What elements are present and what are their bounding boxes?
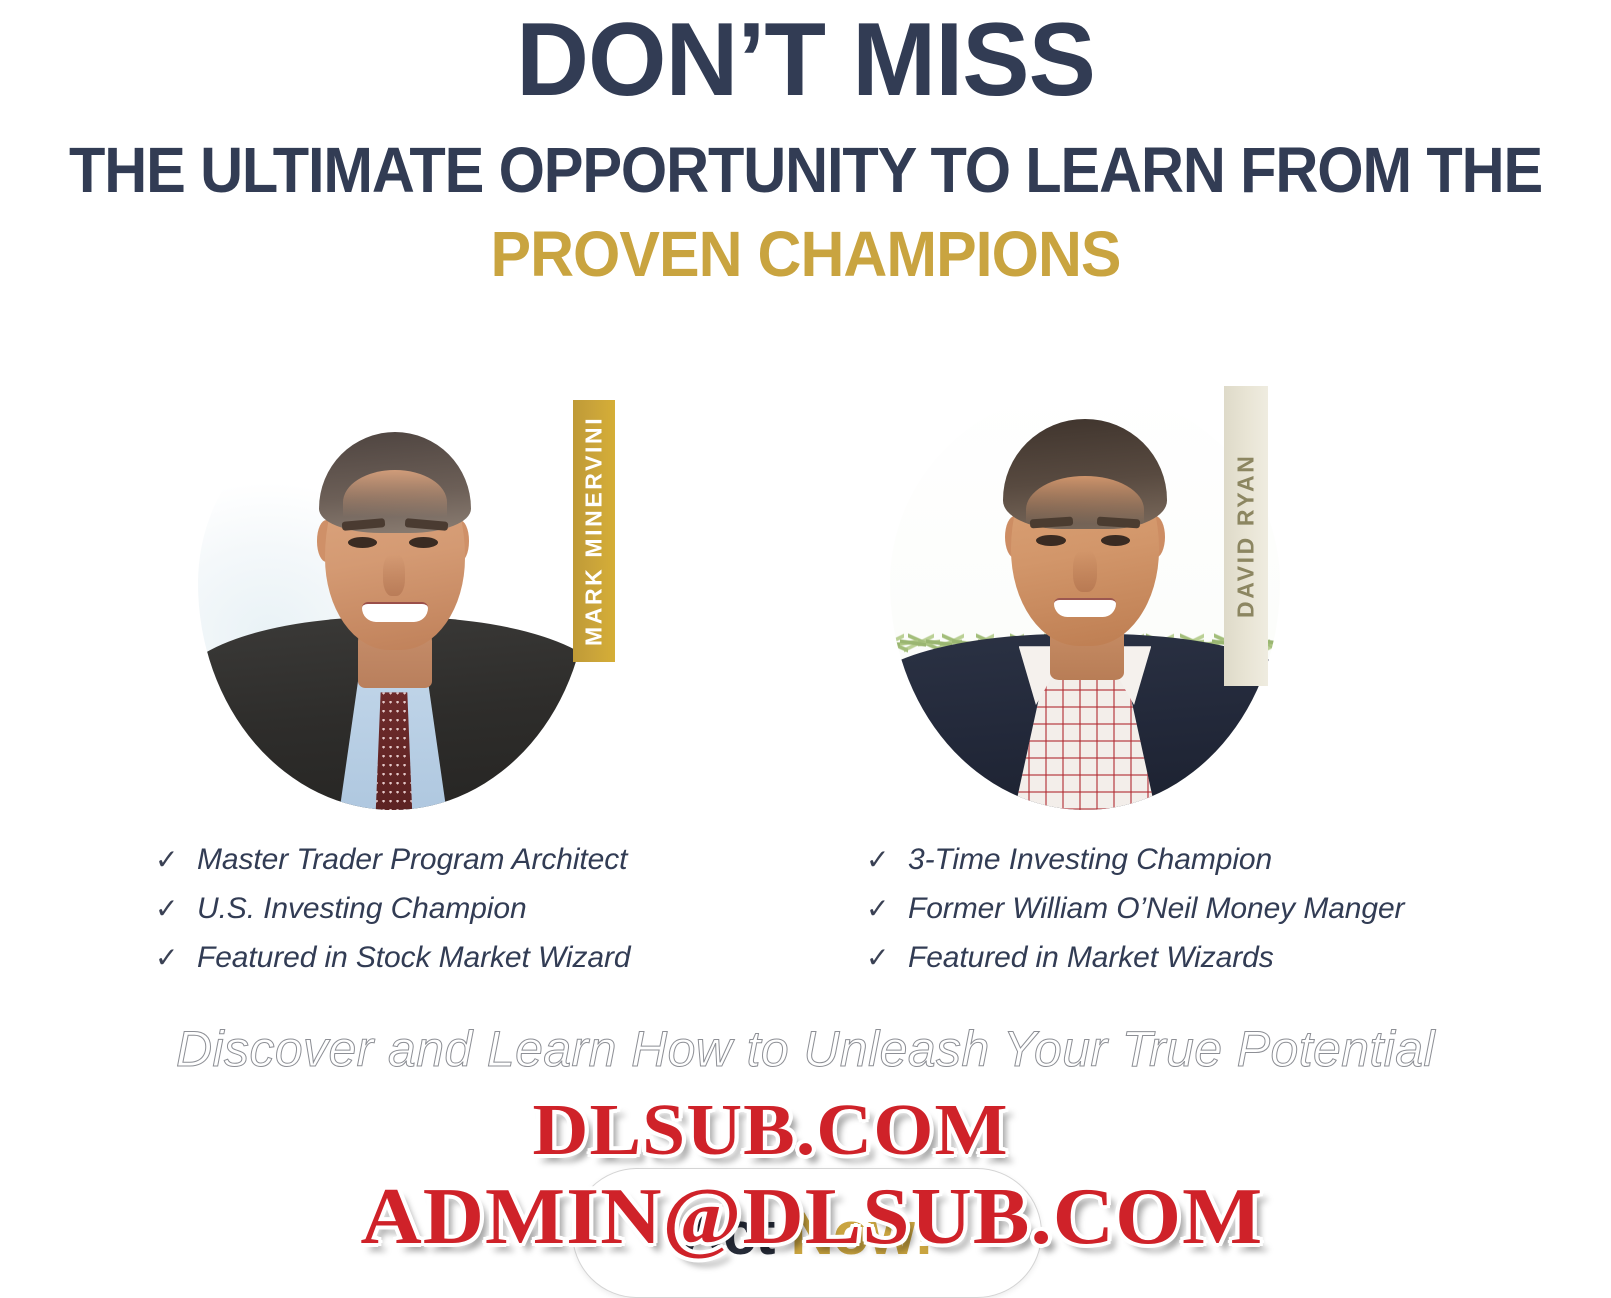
list-item-label: 3-Time Investing Champion bbox=[908, 843, 1272, 877]
check-icon: ✓ bbox=[866, 895, 908, 923]
list-item-label: U.S. Investing Champion bbox=[197, 892, 527, 926]
check-icon: ✓ bbox=[155, 846, 197, 874]
credentials-list-david-ryan: ✓ 3-Time Investing Champion ✓ Former Wil… bbox=[866, 843, 1404, 990]
headline-line-1: DON’T MISS bbox=[24, 0, 1587, 112]
portrait-nose bbox=[383, 554, 404, 596]
check-icon: ✓ bbox=[155, 895, 197, 923]
portrait-eye-right bbox=[1101, 535, 1130, 546]
list-item: ✓ Featured in Market Wizards bbox=[866, 941, 1404, 990]
portrait-illustration bbox=[198, 390, 588, 810]
list-item-label: Former William O’Neil Money Manger bbox=[908, 892, 1404, 926]
list-item: ✓ 3-Time Investing Champion bbox=[866, 843, 1404, 892]
speakers-row: MARK MINERVINI bbox=[0, 378, 1611, 828]
list-item: ✓ Former William O’Neil Money Manger bbox=[866, 892, 1404, 941]
headline-line-3: PROVEN CHAMPIONS bbox=[40, 202, 1570, 286]
list-item-label: Featured in Market Wizards bbox=[908, 941, 1274, 975]
speaker-card-david-ryan: DAVID RYAN bbox=[860, 378, 1320, 828]
headline-line-2: THE ULTIMATE OPPORTUNITY TO LEARN FROM T… bbox=[56, 112, 1554, 202]
credentials-list-mark-minervini: ✓ Master Trader Program Architect ✓ U.S.… bbox=[155, 843, 630, 990]
watermark-site: DLSUB.COM bbox=[533, 1088, 1009, 1172]
tagline: Discover and Learn How to Unleash Your T… bbox=[0, 1020, 1611, 1078]
speaker-name-banner-david-ryan: DAVID RYAN bbox=[1224, 386, 1268, 686]
portrait-smile bbox=[1054, 598, 1116, 617]
check-icon: ✓ bbox=[866, 944, 908, 972]
speaker-card-mark-minervini: MARK MINERVINI bbox=[168, 378, 628, 828]
speaker-photo-mark-minervini bbox=[198, 390, 588, 810]
list-item: ✓ Master Trader Program Architect bbox=[155, 843, 630, 892]
portrait-eye-left bbox=[1036, 535, 1065, 546]
speaker-name-banner-mark-minervini: MARK MINERVINI bbox=[573, 400, 615, 662]
list-item: ✓ U.S. Investing Champion bbox=[155, 892, 630, 941]
headline-block: DON’T MISS THE ULTIMATE OPPORTUNITY TO L… bbox=[0, 0, 1611, 286]
portrait-smile bbox=[362, 602, 428, 622]
check-icon: ✓ bbox=[155, 944, 197, 972]
speaker-photo-david-ryan bbox=[890, 390, 1280, 810]
check-icon: ✓ bbox=[866, 846, 908, 874]
list-item: ✓ Featured in Stock Market Wizard bbox=[155, 941, 630, 990]
portrait-eye-left bbox=[348, 537, 377, 548]
portrait-nose bbox=[1073, 550, 1096, 592]
list-item-label: Master Trader Program Architect bbox=[197, 843, 627, 877]
list-item-label: Featured in Stock Market Wizard bbox=[197, 941, 630, 975]
portrait-necktie bbox=[375, 692, 412, 810]
portrait-illustration bbox=[890, 390, 1280, 810]
watermark-email: ADMIN@DLSUB.COM bbox=[360, 1172, 1263, 1263]
portrait-eye-right bbox=[409, 537, 438, 548]
